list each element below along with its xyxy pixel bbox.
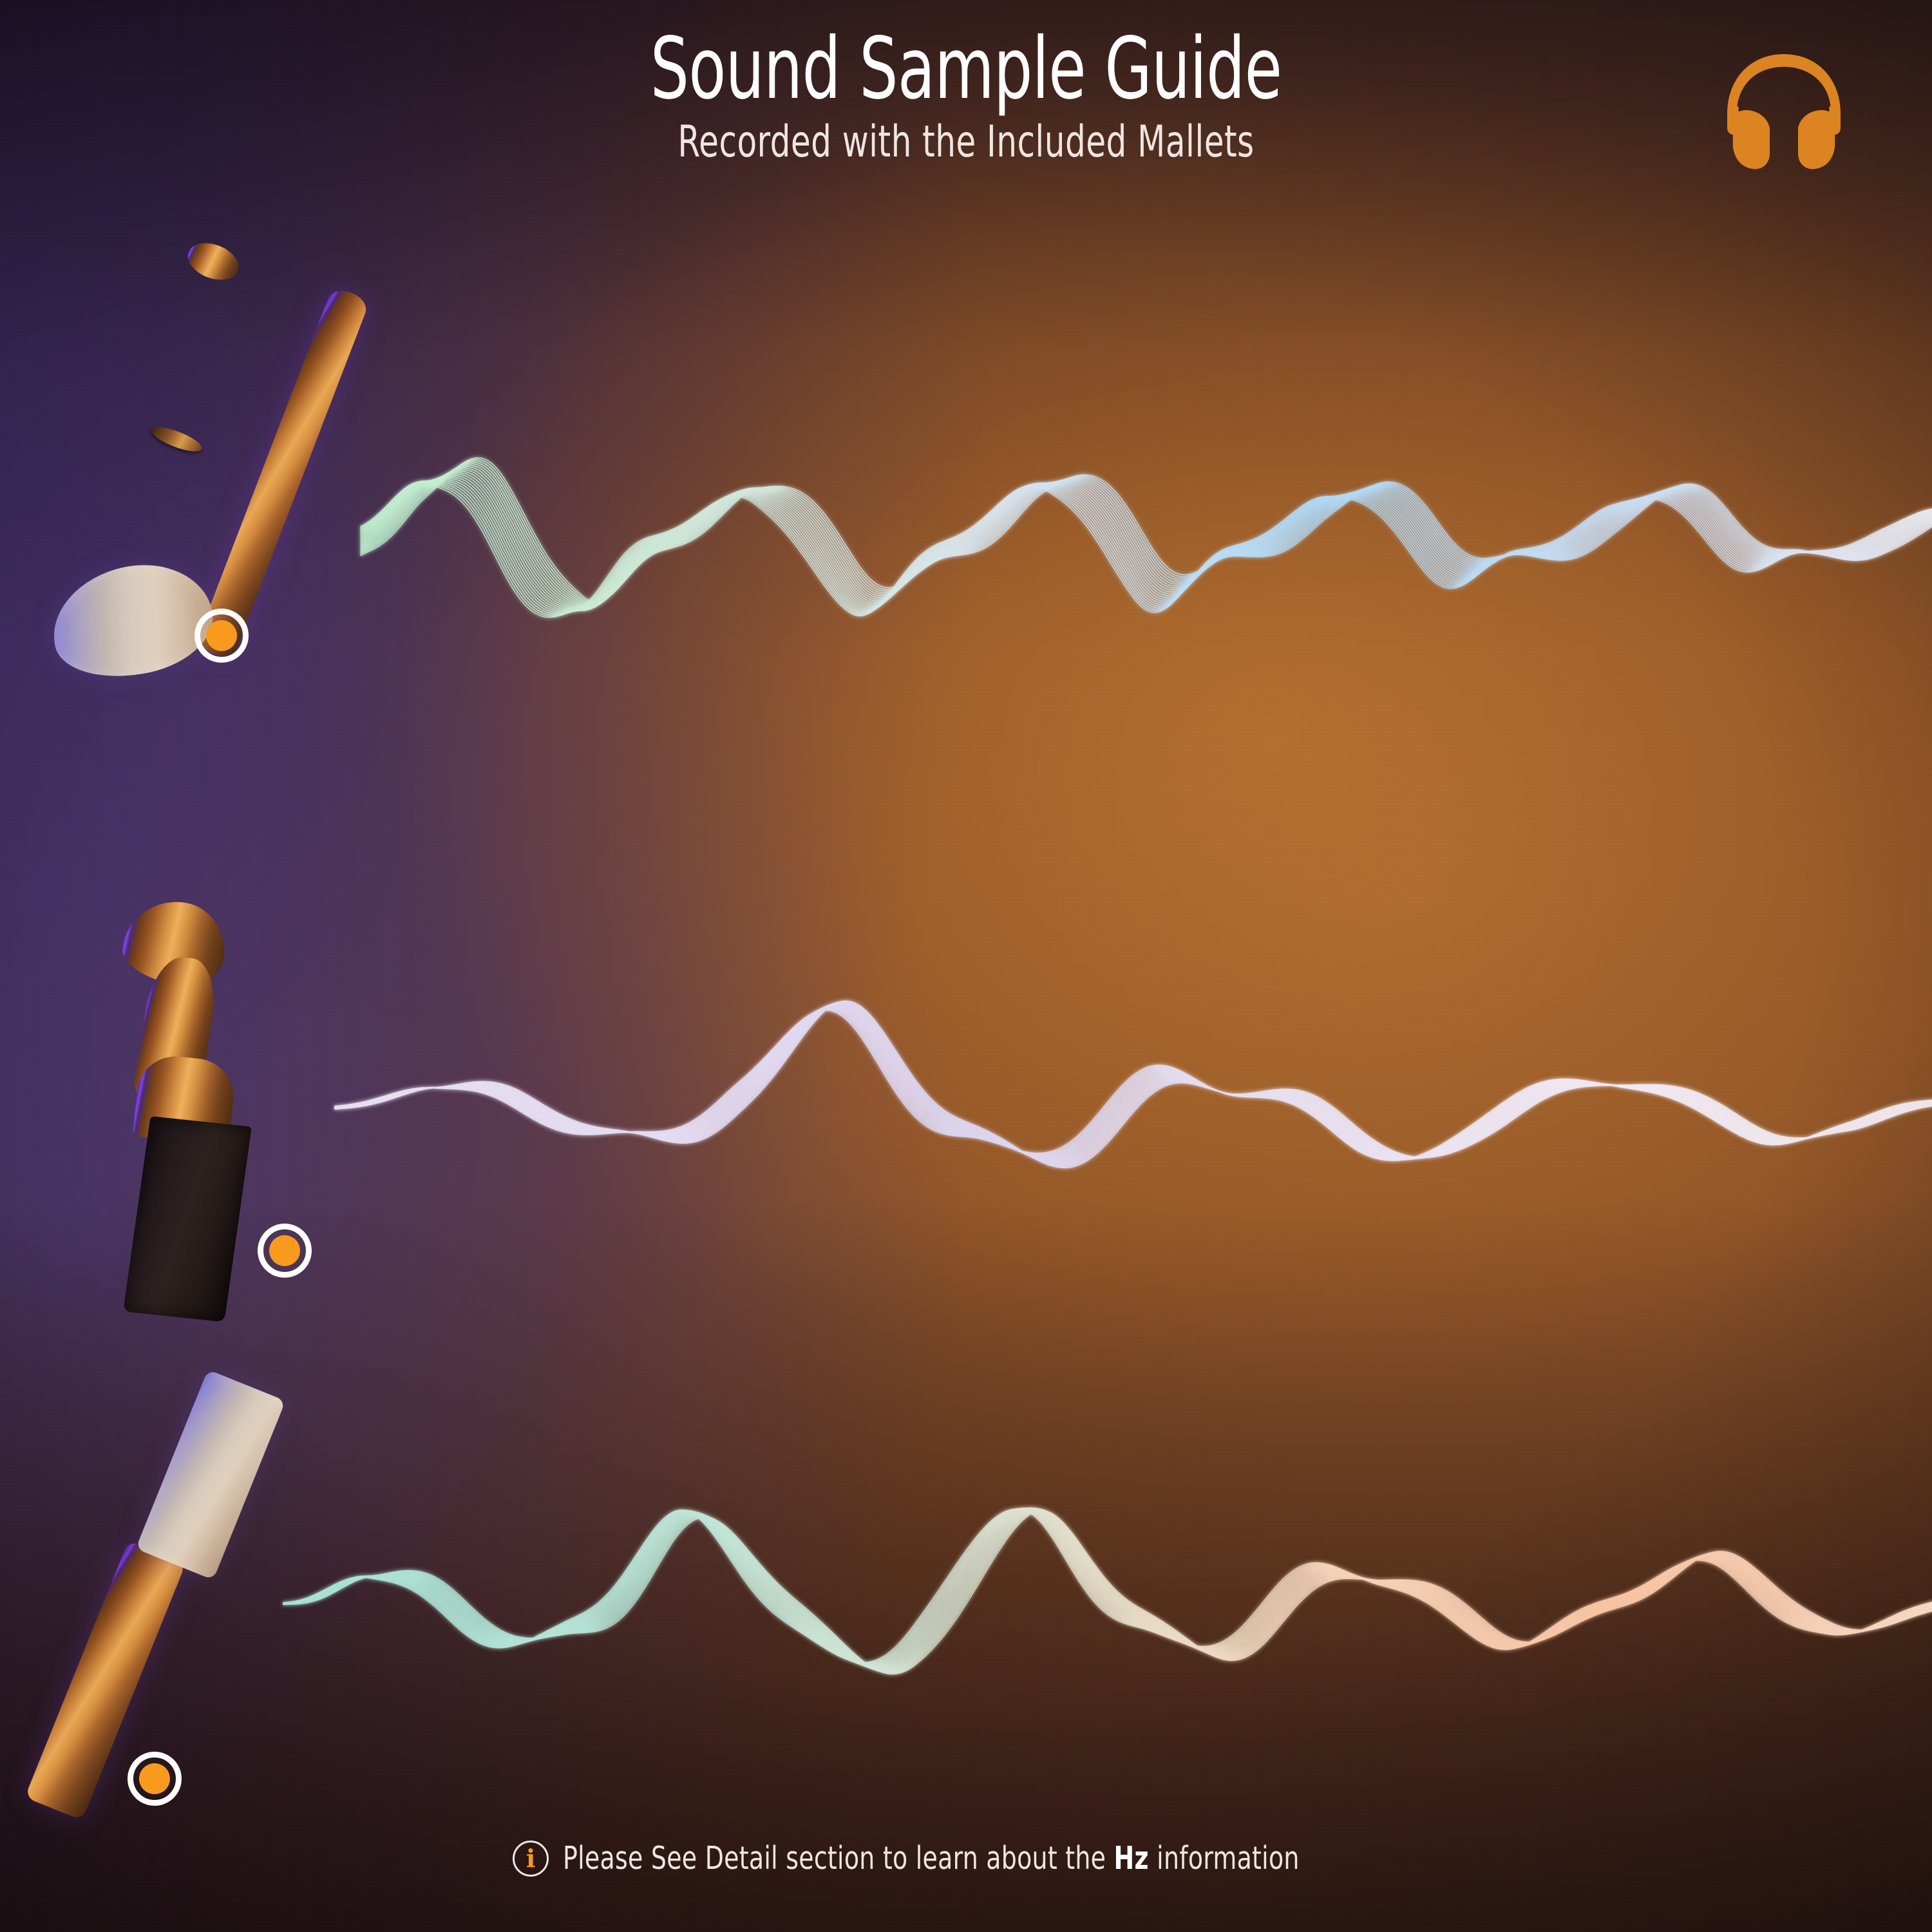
waveform-line <box>335 1001 1932 1168</box>
sample-marker-1[interactable] <box>194 609 249 663</box>
waveform-3-row <box>283 1410 1932 1797</box>
waveform-3-chart <box>283 1410 1932 1797</box>
info-circle-icon: i <box>513 1841 549 1877</box>
waveform-line <box>335 1003 1932 1162</box>
waveform-1-row <box>361 361 1932 721</box>
waveform-line <box>335 1005 1932 1159</box>
mallet-1-handle <box>194 286 370 661</box>
mallet-3-felt-head <box>136 1370 286 1580</box>
mallet-1-group[interactable] <box>0 232 361 837</box>
poster-canvas: Sound Sample Guide Recorded with the Inc… <box>0 0 1932 1932</box>
page-title: Sound Sample Guide <box>193 26 1739 113</box>
waveform-line <box>361 477 1932 611</box>
mallet-1-collar-ring <box>148 422 204 457</box>
footer-text-after: information <box>1149 1840 1300 1877</box>
footer-text-bold: Hz <box>1114 1840 1149 1877</box>
waveform-line <box>335 1007 1932 1160</box>
waveform-line <box>283 1508 1932 1671</box>
waveform-1-chart <box>361 361 1932 721</box>
footer-text-before: Please See Detail section to learn about… <box>563 1840 1114 1877</box>
page-subtitle: Recorded with the Included Mallets <box>174 117 1758 167</box>
waveform-line <box>335 1001 1932 1168</box>
waveform-2-row <box>335 914 1932 1301</box>
waveform-line <box>335 1009 1932 1160</box>
footer-text: Please See Detail section to learn about… <box>563 1840 1300 1877</box>
waveform-line <box>361 462 1932 605</box>
waveform-line <box>361 460 1932 604</box>
mallet-2-leather-block <box>123 1116 252 1322</box>
info-letter: i <box>526 1846 535 1871</box>
mallet-1-felt-head <box>42 551 222 690</box>
waveform-line <box>283 1508 1932 1669</box>
headphones-icon <box>1713 40 1855 182</box>
waveform-2-chart <box>335 914 1932 1301</box>
sample-marker-3[interactable] <box>128 1752 182 1806</box>
poster-header: Sound Sample Guide Recorded with the Inc… <box>0 26 1932 167</box>
mallet-1-handle-knob <box>182 236 243 287</box>
footer-note: i Please See Detail section to learn abo… <box>0 1840 1932 1877</box>
sample-marker-2[interactable] <box>258 1224 312 1278</box>
mallet-2-group[interactable] <box>0 895 361 1365</box>
waveform-line <box>335 1004 1932 1161</box>
